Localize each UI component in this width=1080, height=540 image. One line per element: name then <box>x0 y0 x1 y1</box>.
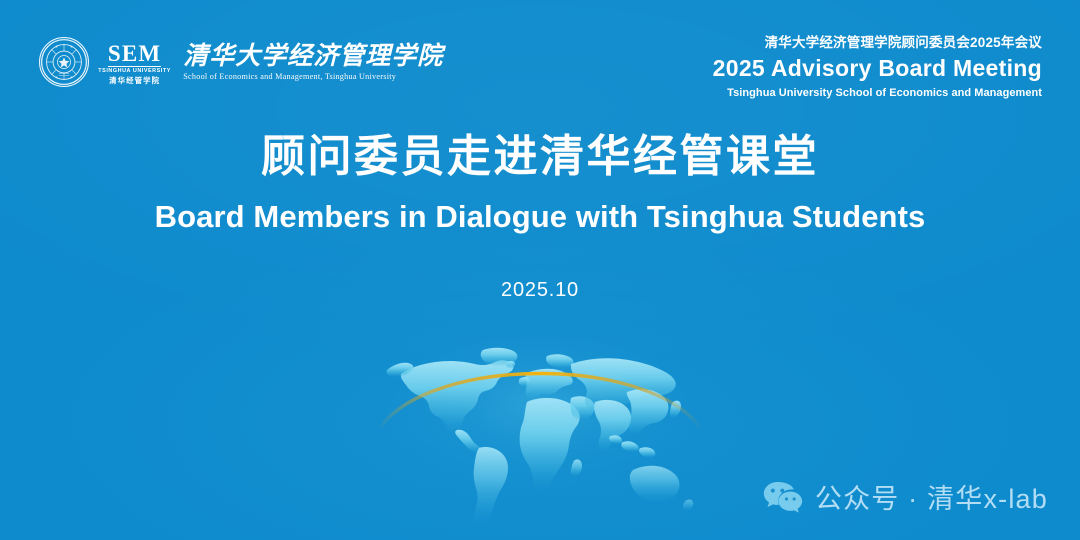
sem-wordmark: SEM TSINGHUA UNIVERSITY 清华经管学院 <box>99 40 170 84</box>
slide-date: 2025.10 <box>0 279 1080 302</box>
meeting-title-english: 2025 Advisory Board Meeting <box>713 57 1042 80</box>
wechat-watermark: 公众号 · 清华x-lab <box>763 477 1048 516</box>
meeting-title-chinese: 清华大学经济管理学院顾问委员会2025年会议 <box>713 36 1042 50</box>
slide-title-group: 顾问委员走进清华经管课堂 Board Members in Dialogue w… <box>0 132 1080 302</box>
wechat-icon <box>763 480 803 514</box>
golden-arc <box>381 374 699 427</box>
sem-english-label: TSINGHUA UNIVERSITY <box>98 69 171 74</box>
tsinghua-university-seal-icon <box>38 36 90 88</box>
continents-group <box>387 348 694 531</box>
meeting-identity-block: 清华大学经济管理学院顾问委员会2025年会议 2025 Advisory Boa… <box>713 36 1042 99</box>
tsinghua-sem-logo: SEM TSINGHUA UNIVERSITY 清华经管学院 清华大学经济管理学… <box>38 36 443 88</box>
school-name-block: 清华大学经济管理学院 School of Economics and Manag… <box>183 43 443 81</box>
presentation-slide: SEM TSINGHUA UNIVERSITY 清华经管学院 清华大学经济管理学… <box>0 0 1080 540</box>
meeting-subtitle: Tsinghua University School of Economics … <box>713 88 1042 99</box>
slide-header: SEM TSINGHUA UNIVERSITY 清华经管学院 清华大学经济管理学… <box>0 0 1080 110</box>
school-name-chinese: 清华大学经济管理学院 <box>183 43 443 69</box>
sem-abbrev: SEM <box>108 42 161 67</box>
world-map-globe <box>375 330 705 540</box>
main-title-chinese: 顾问委员走进清华经管课堂 <box>0 132 1080 181</box>
world-map-svg <box>375 330 705 540</box>
watermark-label: 公众号 · 清华x-lab <box>815 477 1048 516</box>
school-name-english: School of Economics and Management, Tsin… <box>183 72 443 81</box>
sem-chinese-label: 清华经管学院 <box>109 77 160 84</box>
main-title-english: Board Members in Dialogue with Tsinghua … <box>0 199 1080 235</box>
